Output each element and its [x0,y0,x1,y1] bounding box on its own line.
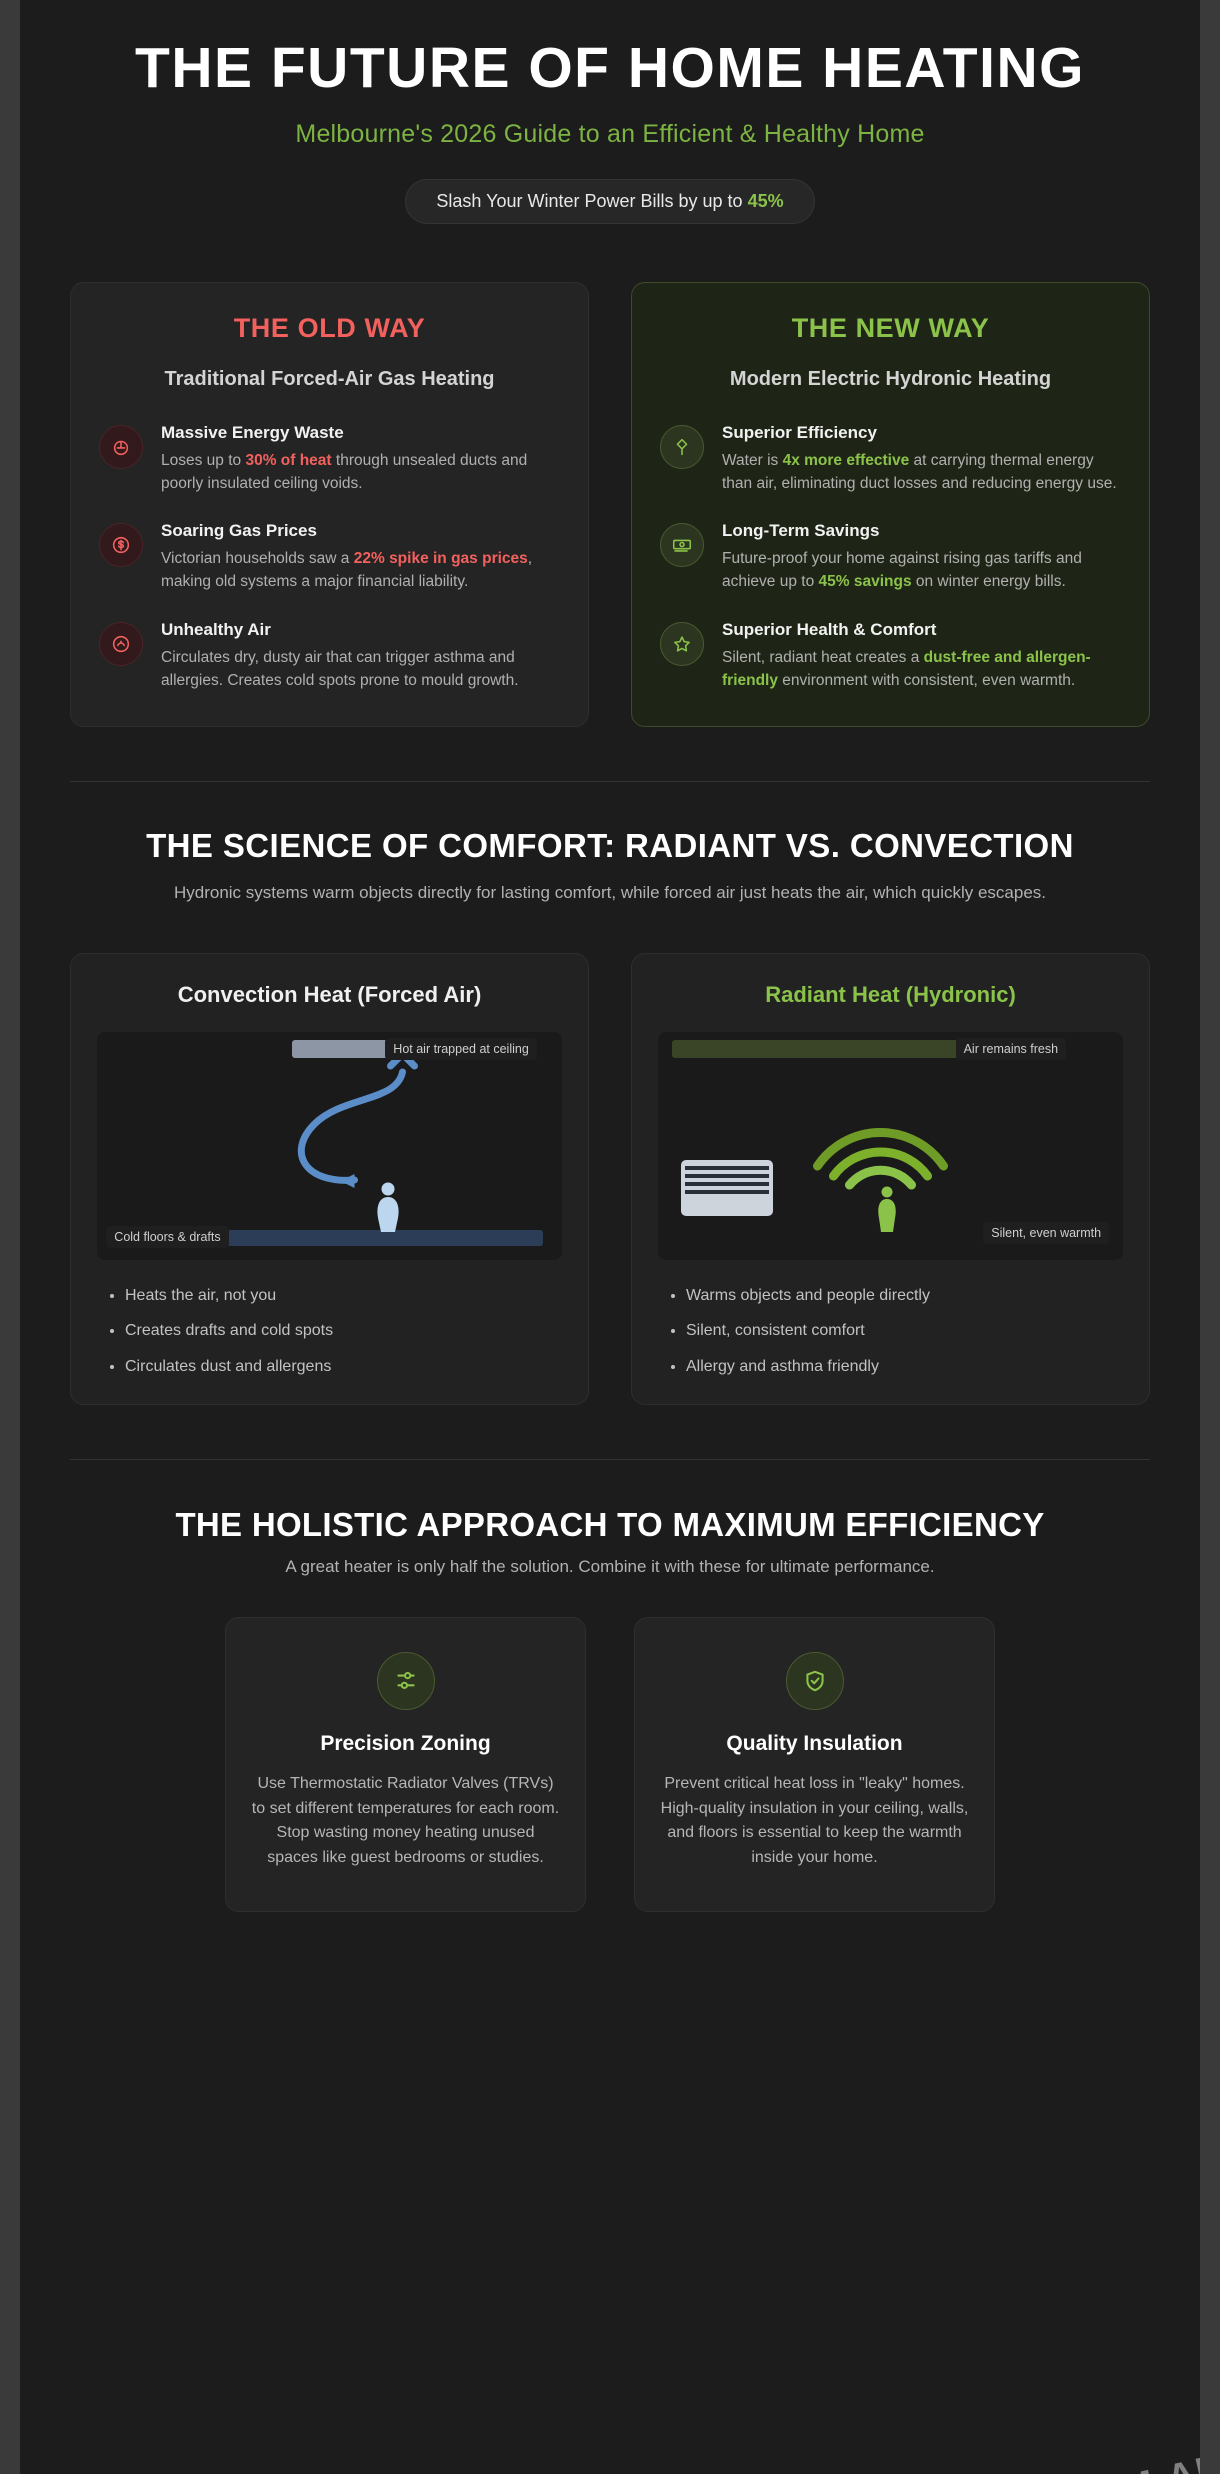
new-item-title: Superior Health & Comfort [722,620,1121,640]
holistic-subheading: A great heater is only half the solution… [80,1557,1140,1577]
quality-insulation-card: Quality Insulation Prevent critical heat… [634,1617,995,1912]
lungs-warning-icon [99,622,143,666]
convection-floor-tag: Cold floors & drafts [106,1226,228,1248]
desc-part-a: Water is [722,452,783,469]
radiant-diagram: Air remains fresh Silent [658,1032,1123,1260]
desc-part-a: Silent, radiant heat creates a [722,649,924,666]
fire-alert-icon [99,425,143,469]
convection-card: Convection Heat (Forced Air) Hot air tra… [70,953,589,1405]
new-way-item: Long-Term Savings Future-proof your home… [660,521,1121,594]
list-item: Creates drafts and cold spots [125,1319,562,1342]
page-subtitle: Melbourne's 2026 Guide to an Efficient &… [80,120,1140,149]
old-item-desc: Loses up to 30% of heat through unsealed… [161,449,560,496]
holistic-card-title: Quality Insulation [659,1732,970,1756]
precision-zoning-card: Precision Zoning Use Thermostatic Radiat… [225,1617,586,1912]
desc-highlight: 30% of heat [245,452,331,469]
holistic-card-title: Precision Zoning [250,1732,561,1756]
new-way-title: Modern Electric Hydronic Heating [660,366,1121,393]
old-way-title: Traditional Forced-Air Gas Heating [99,366,560,393]
savings-badge-text: Slash Your Winter Power Bills by up to [436,191,747,211]
radiator-panel-icon [681,1160,773,1216]
radiant-bullets: Warms objects and people directly Silent… [668,1284,1123,1378]
old-way-item: Unhealthy Air Circulates dry, dusty air … [99,620,560,693]
holistic-card-text: Prevent critical heat loss in "leaky" ho… [659,1772,970,1871]
old-item-title: Unhealthy Air [161,620,560,640]
convection-diagram: Hot air trapped at ceiling Cold floors &… [97,1032,562,1260]
sliders-control-icon [377,1652,435,1710]
desc-highlight: 22% spike in gas prices [354,550,528,567]
list-item: Circulates dust and allergens [125,1355,562,1378]
desc-part-c: on winter energy bills. [912,573,1066,590]
desc-part-c: environment with consistent, even warmth… [778,672,1075,689]
radiant-card: Radiant Heat (Hydronic) Air remains fres… [631,953,1150,1405]
new-item-desc: Water is 4x more effective at carrying t… [722,449,1121,496]
new-item-title: Superior Efficiency [722,423,1121,443]
new-item-desc: Silent, radiant heat creates a dust-free… [722,646,1121,693]
old-way-card: THE OLD WAY Traditional Forced-Air Gas H… [70,282,589,728]
savings-badge: Slash Your Winter Power Bills by up to 4… [405,179,814,224]
old-item-title: Soaring Gas Prices [161,521,560,541]
page-title: THE FUTURE OF HOME HEATING [80,38,1140,100]
shield-check-icon [786,1652,844,1710]
list-item: Heats the air, not you [125,1284,562,1307]
new-way-eyebrow: THE NEW WAY [660,313,1121,344]
comparison-section: THE OLD WAY Traditional Forced-Air Gas H… [20,224,1200,728]
list-item: Warms objects and people directly [686,1284,1123,1307]
convection-ceiling-tag: Hot air trapped at ceiling [385,1038,537,1060]
radiant-ceiling-tag: Air remains fresh [956,1038,1066,1060]
old-way-item: Soaring Gas Prices Victorian households … [99,521,560,594]
desc-highlight: 45% savings [819,573,912,590]
old-item-desc: Victorian households saw a 22% spike in … [161,547,560,594]
holistic-cards: Precision Zoning Use Thermostatic Radiat… [20,1577,1200,1912]
new-item-desc: Future-proof your home against rising ga… [722,547,1121,594]
watermark: MELBOURNEHYDRONIC.COM.AU [577,2446,1200,2474]
new-item-title: Long-Term Savings [722,521,1121,541]
old-way-eyebrow: THE OLD WAY [99,313,560,344]
radiant-title: Radiant Heat (Hydronic) [658,982,1123,1008]
science-section-header: THE SCIENCE OF COMFORT: RADIANT VS. CONV… [20,782,1200,905]
convection-title: Convection Heat (Forced Air) [97,982,562,1008]
new-way-item: Superior Health & Comfort Silent, radian… [660,620,1121,693]
hero-section: THE FUTURE OF HOME HEATING Melbourne's 2… [20,0,1200,224]
old-item-desc: Circulates dry, dusty air that can trigg… [161,646,560,693]
banknote-icon [660,523,704,567]
holistic-heading: THE HOLISTIC APPROACH TO MAXIMUM EFFICIE… [80,1506,1140,1544]
water-drop-icon [660,425,704,469]
star-icon [660,622,704,666]
holistic-section-header: THE HOLISTIC APPROACH TO MAXIMUM EFFICIE… [20,1460,1200,1577]
dollar-icon [99,523,143,567]
science-heading: THE SCIENCE OF COMFORT: RADIANT VS. CONV… [110,826,1110,866]
list-item: Silent, consistent comfort [686,1319,1123,1342]
radiant-floor-tag: Silent, even warmth [983,1222,1109,1244]
holistic-card-text: Use Thermostatic Radiator Valves (TRVs) … [250,1772,561,1871]
new-way-card: THE NEW WAY Modern Electric Hydronic Hea… [631,282,1150,728]
new-way-item: Superior Efficiency Water is 4x more eff… [660,423,1121,496]
science-subheading: Hydronic systems warm objects directly f… [110,880,1110,906]
desc-highlight: 4x more effective [783,452,910,469]
diagrams-section: Convection Heat (Forced Air) Hot air tra… [20,905,1200,1405]
infographic-page: THE FUTURE OF HOME HEATING Melbourne's 2… [20,0,1200,2474]
old-item-title: Massive Energy Waste [161,423,560,443]
old-way-item: Massive Energy Waste Loses up to 30% of … [99,423,560,496]
person-figure-warm-icon [872,1184,902,1234]
list-item: Allergy and asthma friendly [686,1355,1123,1378]
person-figure-cold-icon [371,1180,405,1234]
convection-bullets: Heats the air, not you Creates drafts an… [107,1284,562,1378]
desc-part-a: Victorian households saw a [161,550,354,567]
desc-part-a: Loses up to [161,452,245,469]
savings-badge-value: 45% [748,191,784,211]
